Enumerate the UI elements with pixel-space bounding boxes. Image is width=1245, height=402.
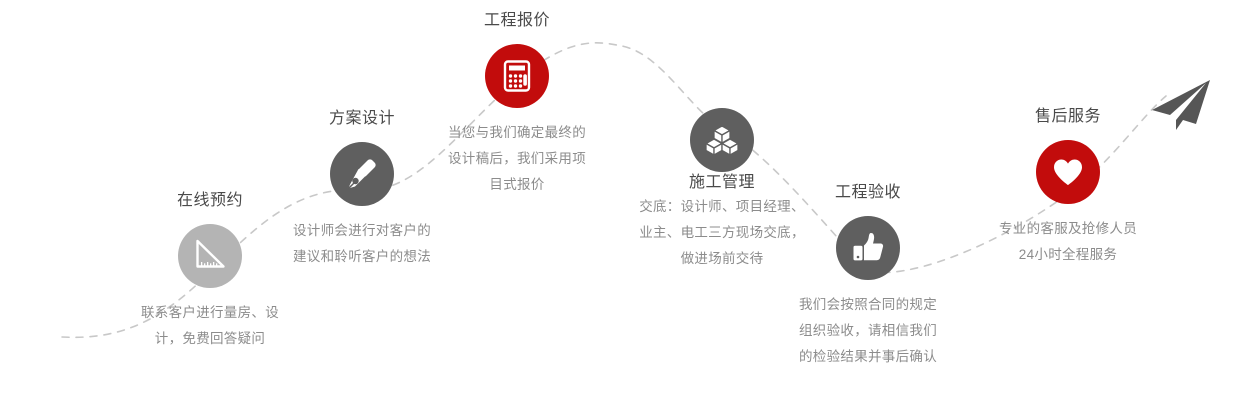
flow-step-2-icon-badge[interactable] xyxy=(330,142,394,206)
flow-step-5-icon-badge[interactable] xyxy=(836,216,900,280)
flow-step-4-title: 施工管理 xyxy=(689,172,755,194)
fountain-pen-icon xyxy=(344,156,380,192)
flow-step-1-description: 联系客户进行量房、设计，免费回答疑问 xyxy=(135,300,285,352)
flow-step-2-title: 方案设计 xyxy=(329,108,395,130)
flow-step-5-description: 我们会按照合同的规定组织验收，请相信我们的检验结果并事后确认 xyxy=(793,292,943,370)
flow-step-1-icon-badge[interactable] xyxy=(178,224,242,288)
flow-step-2-description: 设计师会进行对客户的建议和聆听客户的想法 xyxy=(287,218,437,270)
flow-step-5-title: 工程验收 xyxy=(835,182,901,204)
flow-step-3-title: 工程报价 xyxy=(484,10,550,32)
flow-step-5[interactable]: 工程验收 我们会按照合同的规定组织验收，请相信我们的检验结果并事后确认 xyxy=(768,182,968,370)
flow-step-3[interactable]: 工程报价 当您与我们确定最终的设 xyxy=(417,10,617,198)
flow-step-3-icon-badge[interactable] xyxy=(485,44,549,108)
flow-step-6[interactable]: 售后服务 专业的客服及抢修人员24小时全程服务 xyxy=(968,106,1168,268)
flow-step-4-icon-badge[interactable] xyxy=(690,108,754,172)
flow-step-6-icon-badge[interactable] xyxy=(1036,140,1100,204)
flow-diagram: 在线预约 联系客户进行量房、设计，免费回答疑问 方案设计 xyxy=(0,0,1245,402)
calculator-icon xyxy=(499,58,535,94)
flow-step-6-description: 专业的客服及抢修人员24小时全程服务 xyxy=(993,216,1143,268)
thumbs-up-icon xyxy=(850,230,886,266)
flow-step-6-title: 售后服务 xyxy=(1035,106,1101,128)
flow-step-1-title: 在线预约 xyxy=(177,190,243,212)
cubes-icon xyxy=(704,122,740,158)
ruler-triangle-icon xyxy=(192,238,228,274)
flow-step-3-description: 当您与我们确定最终的设计稿后，我们采用项目式报价 xyxy=(442,120,592,198)
heart-icon xyxy=(1050,154,1086,190)
